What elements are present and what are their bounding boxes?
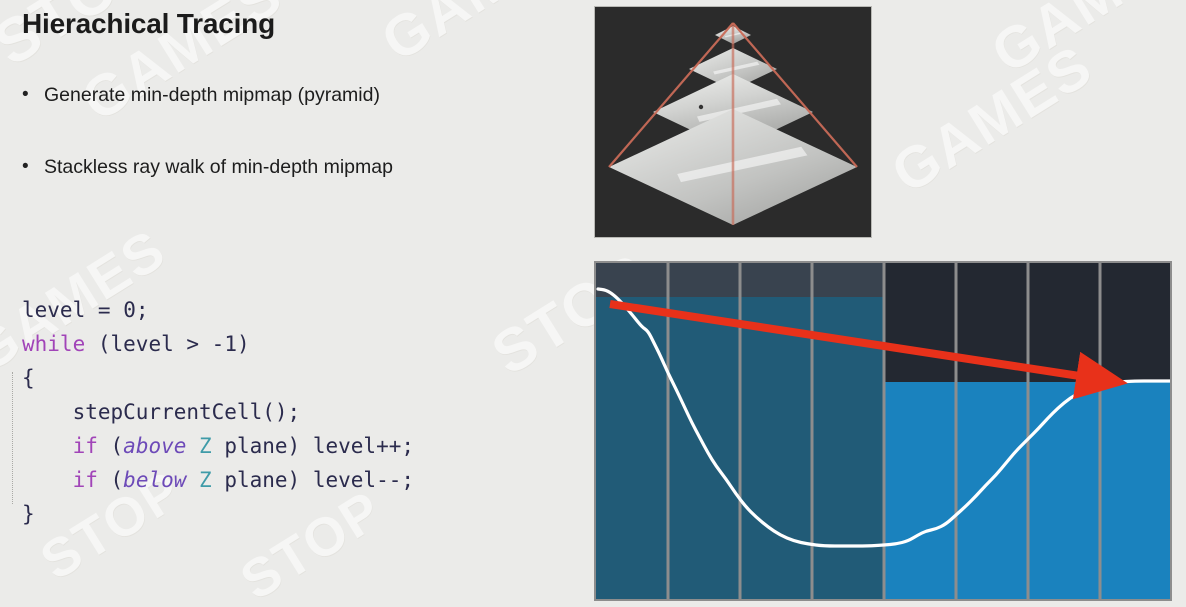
pyramid-sample-dot [699, 105, 703, 109]
bullet-text: Stackless ray walk of min-depth mipmap [44, 154, 393, 180]
code-token: below [123, 468, 186, 492]
bullet-list: • Generate min-depth mipmap (pyramid) • … [20, 82, 580, 226]
bullet-text: Generate min-depth mipmap (pyramid) [44, 82, 380, 108]
code-token: while [22, 332, 85, 356]
code-token [186, 468, 199, 492]
code-line: while (level > -1) [22, 327, 414, 361]
code-line: level = 0; [22, 293, 414, 327]
code-line: if (below Z plane) level--; [22, 463, 414, 497]
code-indent-guide [12, 372, 13, 504]
code-token: level [22, 298, 85, 322]
heightfield-figure [594, 261, 1172, 601]
pyramid-figure [594, 6, 872, 238]
code-token: { [22, 366, 35, 390]
code-token: ) [237, 332, 250, 356]
watermark-text: GAMES [370, 0, 594, 75]
code-line: stepCurrentCell(); [22, 395, 414, 429]
code-token: ( [98, 468, 123, 492]
code-token [22, 434, 73, 458]
code-token [85, 298, 98, 322]
code-line: } [22, 497, 414, 531]
code-token: } [22, 502, 35, 526]
code-token: ( [98, 434, 123, 458]
list-item: • Stackless ray walk of min-depth mipmap [20, 154, 580, 180]
heightfield-svg [596, 263, 1170, 599]
code-token: 0 [123, 298, 136, 322]
code-token: plane) level--; [212, 468, 414, 492]
code-token: = [98, 298, 111, 322]
watermark-text: GAMES [980, 0, 1186, 87]
code-token: stepCurrentCell(); [22, 400, 300, 424]
code-token: if [73, 468, 98, 492]
code-token [22, 468, 73, 492]
code-token [111, 298, 124, 322]
code-line: if (above Z plane) level++; [22, 429, 414, 463]
list-item: • Generate min-depth mipmap (pyramid) [20, 82, 580, 108]
pyramid-svg [595, 7, 871, 237]
code-token: level [111, 332, 174, 356]
code-block: level = 0;while (level > -1){ stepCurren… [22, 293, 414, 531]
code-token: ; [136, 298, 149, 322]
code-token: -1 [212, 332, 237, 356]
code-token: ( [85, 332, 110, 356]
code-token: if [73, 434, 98, 458]
code-token: Z [199, 434, 212, 458]
code-line: { [22, 361, 414, 395]
code-token: > [174, 332, 212, 356]
code-token: above [123, 434, 186, 458]
bullet-marker-icon: • [20, 82, 44, 108]
code-token: plane) level++; [212, 434, 414, 458]
code-token: Z [199, 468, 212, 492]
watermark-text: GAMES [880, 32, 1104, 207]
bullet-marker-icon: • [20, 154, 44, 180]
code-token [186, 434, 199, 458]
page-title: Hierachical Tracing [22, 8, 275, 40]
